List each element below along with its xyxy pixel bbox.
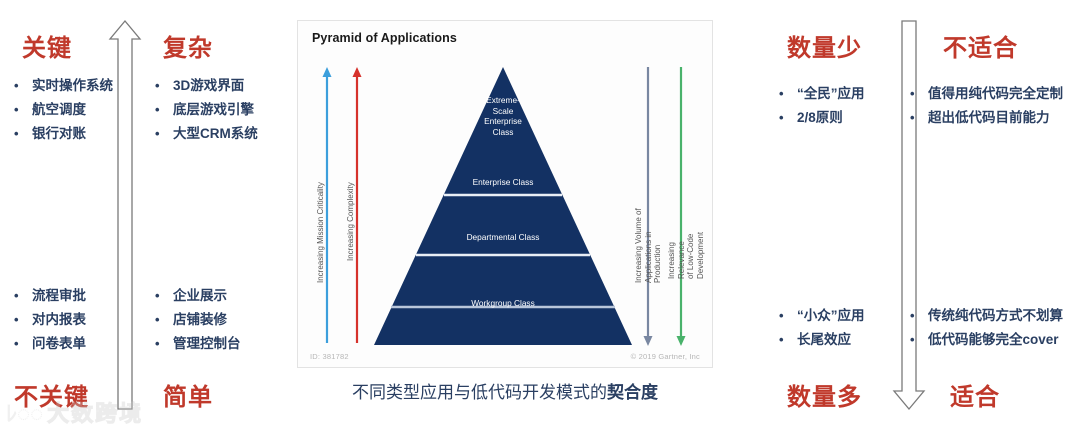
list-item-label: 2/8原则 [797, 106, 843, 130]
list-item: • 流程审批 [14, 284, 86, 308]
column-complexity-bottom-list: • 企业展示 • 店铺装修 • 管理控制台 [155, 284, 241, 356]
pyramid-tier-label-extreme-scale: Extreme- Scale Enterprise Class [443, 95, 563, 137]
list-item-label: 传统纯代码方式不划算 [928, 304, 1063, 328]
list-item: • 低代码能够完全cover [910, 328, 1063, 352]
column-volume-top-label: 数量少 [787, 28, 862, 63]
list-item-label: 航空调度 [32, 98, 86, 122]
list-item: • 实时操作系统 [14, 74, 113, 98]
column-criticality-top-label: 关键 [22, 28, 72, 63]
list-item: • 问卷表单 [14, 332, 86, 356]
column-lowcode-fit-top-list: • 值得用纯代码完全定制 • 超出低代码目前能力 [910, 82, 1063, 130]
pyramid-tier-label-enterprise: Enterprise Class [443, 177, 563, 188]
list-item-label: “小众”应用 [797, 304, 865, 328]
bullet-dot: • [910, 106, 928, 130]
column-criticality-top-list: • 实时操作系统 • 航空调度 • 银行对账 [14, 74, 113, 146]
list-item-label: 低代码能够完全cover [928, 328, 1059, 352]
axis-label-volume-in-production: Increasing Volume of Applications in Pro… [634, 205, 663, 283]
up-arrow-icon [108, 18, 142, 412]
column-complexity-top-label: 复杂 [163, 28, 213, 63]
bullet-dot: • [779, 328, 797, 352]
axis-label-line-2: Increasing Relevance of Low-Code Develop… [667, 232, 705, 279]
bullet-dot: • [779, 304, 797, 328]
card-copyright-text: © 2019 Gartner, Inc [631, 352, 700, 361]
bullet-dot: • [14, 98, 32, 122]
list-item: • 传统纯代码方式不划算 [910, 304, 1063, 328]
axis-arrow-lowcode-relevance [676, 67, 686, 347]
list-item-label: 长尾效应 [797, 328, 851, 352]
list-item-label: 3D游戏界面 [173, 74, 244, 98]
pyramid-tier-label-workgroup: Workgroup Class [443, 298, 563, 309]
column-volume-bottom-list: • “小众”应用 • 长尾效应 [779, 304, 865, 352]
column-volume-bottom-label: 数量多 [787, 377, 862, 412]
list-item-label: 店铺装修 [173, 308, 227, 332]
axis-label-line-1: Increasing Volume of Applications in Pro… [634, 208, 662, 283]
column-complexity-bottom-label: 简单 [163, 377, 213, 412]
list-item-label: 大型CRM系统 [173, 122, 258, 146]
column-lowcode-fit-bottom-label: 适合 [950, 377, 1000, 412]
pyramid-tier-label-departmental: Departmental Class [443, 232, 563, 243]
card-title: Pyramid of Applications [312, 31, 457, 45]
bullet-dot: • [910, 304, 928, 328]
list-item-label: “全民”应用 [797, 82, 865, 106]
watermark-text: 大数跨境 [47, 396, 143, 428]
column-volume-top-list: • “全民”应用 • 2/8原则 [779, 82, 865, 130]
slide-canvas: 关键 • 实时操作系统 • 航空调度 • 银行对账 • 流程审批 • 对内报表 … [0, 0, 1080, 434]
gartner-pyramid-card: Pyramid of Applications Increasing Missi… [297, 20, 713, 368]
watermark-logo-icon: ﾚ◌◌ [6, 396, 43, 428]
list-item-label: 实时操作系统 [32, 74, 113, 98]
bullet-dot: • [155, 332, 173, 356]
list-item-label: 银行对账 [32, 122, 86, 146]
bullet-dot: • [14, 122, 32, 146]
bullet-dot: • [14, 284, 32, 308]
watermark: ﾚ◌◌ 大数跨境 [6, 396, 143, 428]
caption-emphasis: 契合度 [607, 383, 658, 402]
list-item: • 银行对账 [14, 122, 113, 146]
bullet-dot: • [155, 308, 173, 332]
bullet-dot: • [155, 98, 173, 122]
list-item: • “全民”应用 [779, 82, 865, 106]
list-item: • 2/8原则 [779, 106, 865, 130]
list-item: • 长尾效应 [779, 328, 865, 352]
down-arrow-icon [892, 18, 926, 412]
bullet-dot: • [14, 74, 32, 98]
list-item-label: 企业展示 [173, 284, 227, 308]
column-criticality-bottom-list: • 流程审批 • 对内报表 • 问卷表单 [14, 284, 86, 356]
bullet-dot: • [14, 308, 32, 332]
column-lowcode-fit-top-label: 不适合 [943, 28, 1018, 63]
caption: 不同类型应用与低代码开发模式的契合度 [297, 378, 713, 403]
list-item: • 航空调度 [14, 98, 113, 122]
list-item: • 大型CRM系统 [155, 122, 258, 146]
bullet-dot: • [155, 122, 173, 146]
list-item: • 店铺装修 [155, 308, 241, 332]
list-item: • 3D游戏界面 [155, 74, 258, 98]
caption-prefix: 不同类型应用与低代码开发模式的 [352, 383, 607, 402]
axis-label-mission-criticality: Increasing Mission Criticality [316, 182, 326, 283]
list-item-label: 问卷表单 [32, 332, 86, 356]
list-item: • 超出低代码目前能力 [910, 106, 1063, 130]
column-complexity-top-list: • 3D游戏界面 • 底层游戏引擎 • 大型CRM系统 [155, 74, 258, 146]
list-item: • 管理控制台 [155, 332, 241, 356]
axis-label-lowcode-relevance: Increasing Relevance of Low-Code Develop… [667, 232, 705, 279]
bullet-dot: • [779, 82, 797, 106]
list-item: • 企业展示 [155, 284, 241, 308]
bullet-dot: • [155, 284, 173, 308]
bullet-dot: • [14, 332, 32, 356]
bullet-dot: • [779, 106, 797, 130]
list-item: • 底层游戏引擎 [155, 98, 258, 122]
list-item: • 值得用纯代码完全定制 [910, 82, 1063, 106]
bullet-dot: • [910, 82, 928, 106]
column-lowcode-fit-bottom-list: • 传统纯代码方式不划算 • 低代码能够完全cover [910, 304, 1063, 352]
bullet-dot: • [155, 74, 173, 98]
list-item-label: 超出低代码目前能力 [928, 106, 1050, 130]
list-item: • 对内报表 [14, 308, 86, 332]
card-id-text: ID: 381782 [310, 352, 349, 361]
list-item-label: 底层游戏引擎 [173, 98, 254, 122]
list-item-label: 流程审批 [32, 284, 86, 308]
bullet-dot: • [910, 328, 928, 352]
list-item: • “小众”应用 [779, 304, 865, 328]
list-item-label: 管理控制台 [173, 332, 241, 356]
list-item-label: 对内报表 [32, 308, 86, 332]
list-item-label: 值得用纯代码完全定制 [928, 82, 1063, 106]
axis-label-complexity: Increasing Complexity [346, 182, 356, 261]
